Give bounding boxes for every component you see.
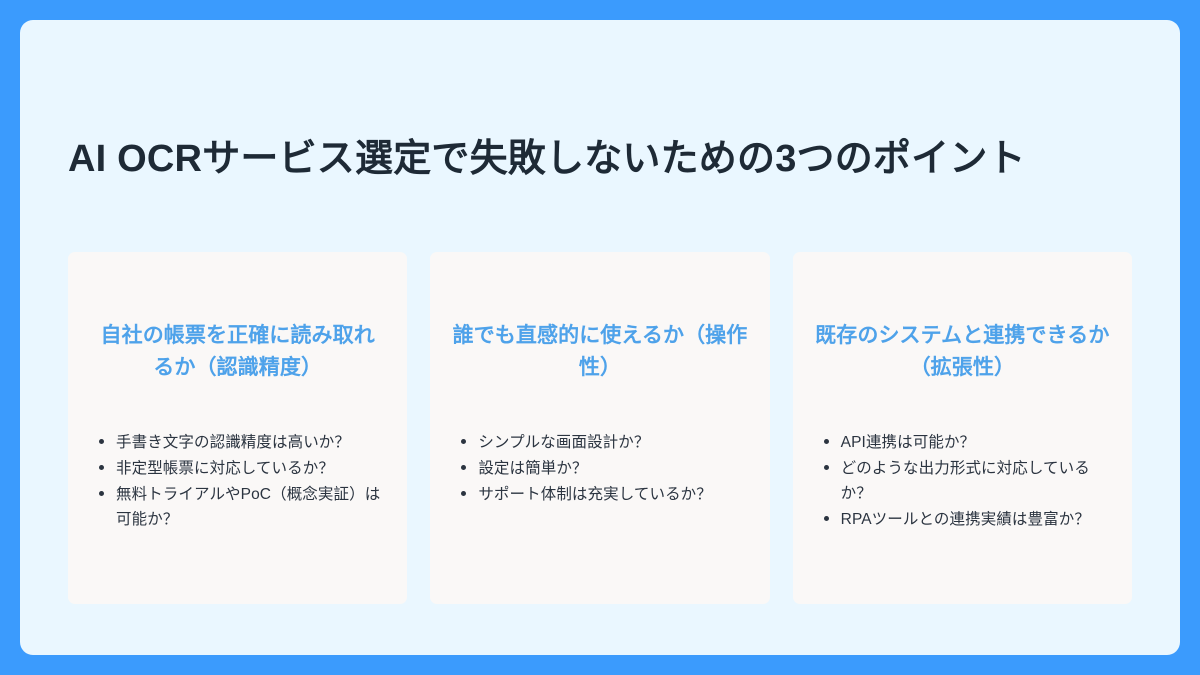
point-card-2: 誰でも直感的に使えるか（操作性） シンプルな画面設計か？ 設定は簡単か？ サポー… xyxy=(430,252,769,604)
list-item: シンプルな画面設計か？ xyxy=(478,430,743,455)
list-item: 非定型帳票に対応しているか？ xyxy=(116,456,381,481)
point-card-2-heading: 誰でも直感的に使えるか（操作性） xyxy=(452,320,747,384)
list-item: 設定は簡単か？ xyxy=(478,456,743,481)
bullet-dot-icon xyxy=(461,439,466,444)
list-item-label: 無料トライアルやPoC（概念実証）は可能か？ xyxy=(116,486,380,528)
point-card-3: 既存のシステムと連携できるか（拡張性） API連携は可能か？ どのような出力形式… xyxy=(793,252,1132,604)
bullet-dot-icon xyxy=(461,465,466,470)
list-item-label: 設定は簡単か？ xyxy=(478,460,587,477)
list-item-label: シンプルな画面設計か？ xyxy=(478,434,649,451)
list-item-label: API連携は可能か？ xyxy=(841,434,975,451)
list-item: 手書き文字の認識精度は高いか？ xyxy=(116,430,381,455)
bullet-dot-icon xyxy=(461,491,466,496)
bullet-dot-icon xyxy=(824,439,829,444)
point-card-3-heading: 既存のシステムと連携できるか（拡張性） xyxy=(815,320,1110,384)
point-card-3-list: API連携は可能か？ どのような出力形式に対応しているか？ RPAツールとの連携… xyxy=(815,430,1110,532)
list-item: API連携は可能か？ xyxy=(841,430,1106,455)
point-card-1-heading: 自社の帳票を正確に読み取れるか（認識精度） xyxy=(90,320,385,384)
list-item-label: どのような出力形式に対応しているか？ xyxy=(841,460,1090,502)
list-item-label: 非定型帳票に対応しているか？ xyxy=(116,460,334,477)
points-card-row: 自社の帳票を正確に読み取れるか（認識精度） 手書き文字の認識精度は高いか？ 非定… xyxy=(68,252,1132,604)
point-card-1: 自社の帳票を正確に読み取れるか（認識精度） 手書き文字の認識精度は高いか？ 非定… xyxy=(68,252,407,604)
list-item-label: サポート体制は充実しているか？ xyxy=(478,486,712,503)
slide-panel: AI OCRサービス選定で失敗しないための3つのポイント 自社の帳票を正確に読み… xyxy=(20,20,1180,655)
list-item-label: RPAツールとの連携実績は豊富か？ xyxy=(841,511,1090,528)
page-title: AI OCRサービス選定で失敗しないための3つのポイント xyxy=(68,135,1132,184)
list-item: サポート体制は充実しているか？ xyxy=(478,482,743,507)
bullet-dot-icon xyxy=(824,516,829,521)
point-card-1-list: 手書き文字の認識精度は高いか？ 非定型帳票に対応しているか？ 無料トライアルやP… xyxy=(90,430,385,532)
list-item: 無料トライアルやPoC（概念実証）は可能か？ xyxy=(116,482,381,532)
list-item-label: 手書き文字の認識精度は高いか？ xyxy=(116,434,350,451)
list-item: どのような出力形式に対応しているか？ xyxy=(841,456,1106,506)
bullet-dot-icon xyxy=(824,465,829,470)
slide-frame: AI OCRサービス選定で失敗しないための3つのポイント 自社の帳票を正確に読み… xyxy=(0,0,1200,675)
point-card-2-list: シンプルな画面設計か？ 設定は簡単か？ サポート体制は充実しているか？ xyxy=(452,430,747,507)
bullet-dot-icon xyxy=(99,439,104,444)
bullet-dot-icon xyxy=(99,465,104,470)
bullet-dot-icon xyxy=(99,491,104,496)
list-item: RPAツールとの連携実績は豊富か？ xyxy=(841,507,1106,532)
